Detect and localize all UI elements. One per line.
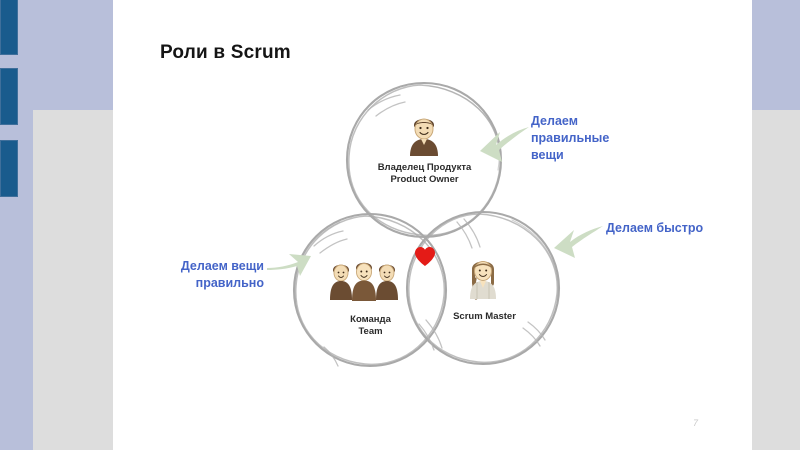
annotation-do-fast-line-1: Делаем быстро xyxy=(606,220,703,237)
slide-canvas: Роли в Scrum xyxy=(0,0,800,450)
arrow-to-scrum-master-icon xyxy=(552,224,604,267)
role-label-scrum-master: Scrum Master xyxy=(432,311,537,323)
annotation-do-fast: Делаем быстро xyxy=(606,220,703,237)
annotation-do-right-things: Делаем правильные вещи xyxy=(531,113,609,164)
product-owner-figure-icon xyxy=(404,112,444,165)
scrum-master-figure-icon xyxy=(463,253,503,308)
role-label-team-en: Team xyxy=(313,326,428,338)
annotation-do-right-things-line-1: Делаем xyxy=(531,113,609,130)
team-figure-icon xyxy=(328,258,400,309)
annotation-do-things-right-line-1: Делаем вещи xyxy=(172,258,264,275)
role-label-product-owner-ru: Владелец Продукта xyxy=(352,162,497,174)
annotation-do-things-right: Делаем вещи правильно xyxy=(172,258,264,292)
annotation-do-things-right-line-2: правильно xyxy=(172,275,264,292)
heart-icon xyxy=(414,246,436,268)
annotation-do-right-things-line-2: правильные xyxy=(531,130,609,147)
role-label-team: Команда Team xyxy=(313,314,428,338)
page-number: 7 xyxy=(693,418,698,428)
arrow-to-product-owner-icon xyxy=(478,124,530,171)
arrow-to-team-icon xyxy=(266,248,312,287)
page-title: Роли в Scrum xyxy=(160,42,291,64)
role-label-product-owner: Владелец Продукта Product Owner xyxy=(352,162,497,186)
sidebar-accent-bar-2 xyxy=(0,68,18,125)
role-label-scrum-master-ru: Scrum Master xyxy=(432,311,537,323)
role-label-team-ru: Команда xyxy=(313,314,428,326)
sidebar-accent-bar-1 xyxy=(0,0,18,55)
role-label-product-owner-en: Product Owner xyxy=(352,174,497,186)
sidebar-accent-bar-3 xyxy=(0,140,18,197)
annotation-do-right-things-line-3: вещи xyxy=(531,147,609,164)
